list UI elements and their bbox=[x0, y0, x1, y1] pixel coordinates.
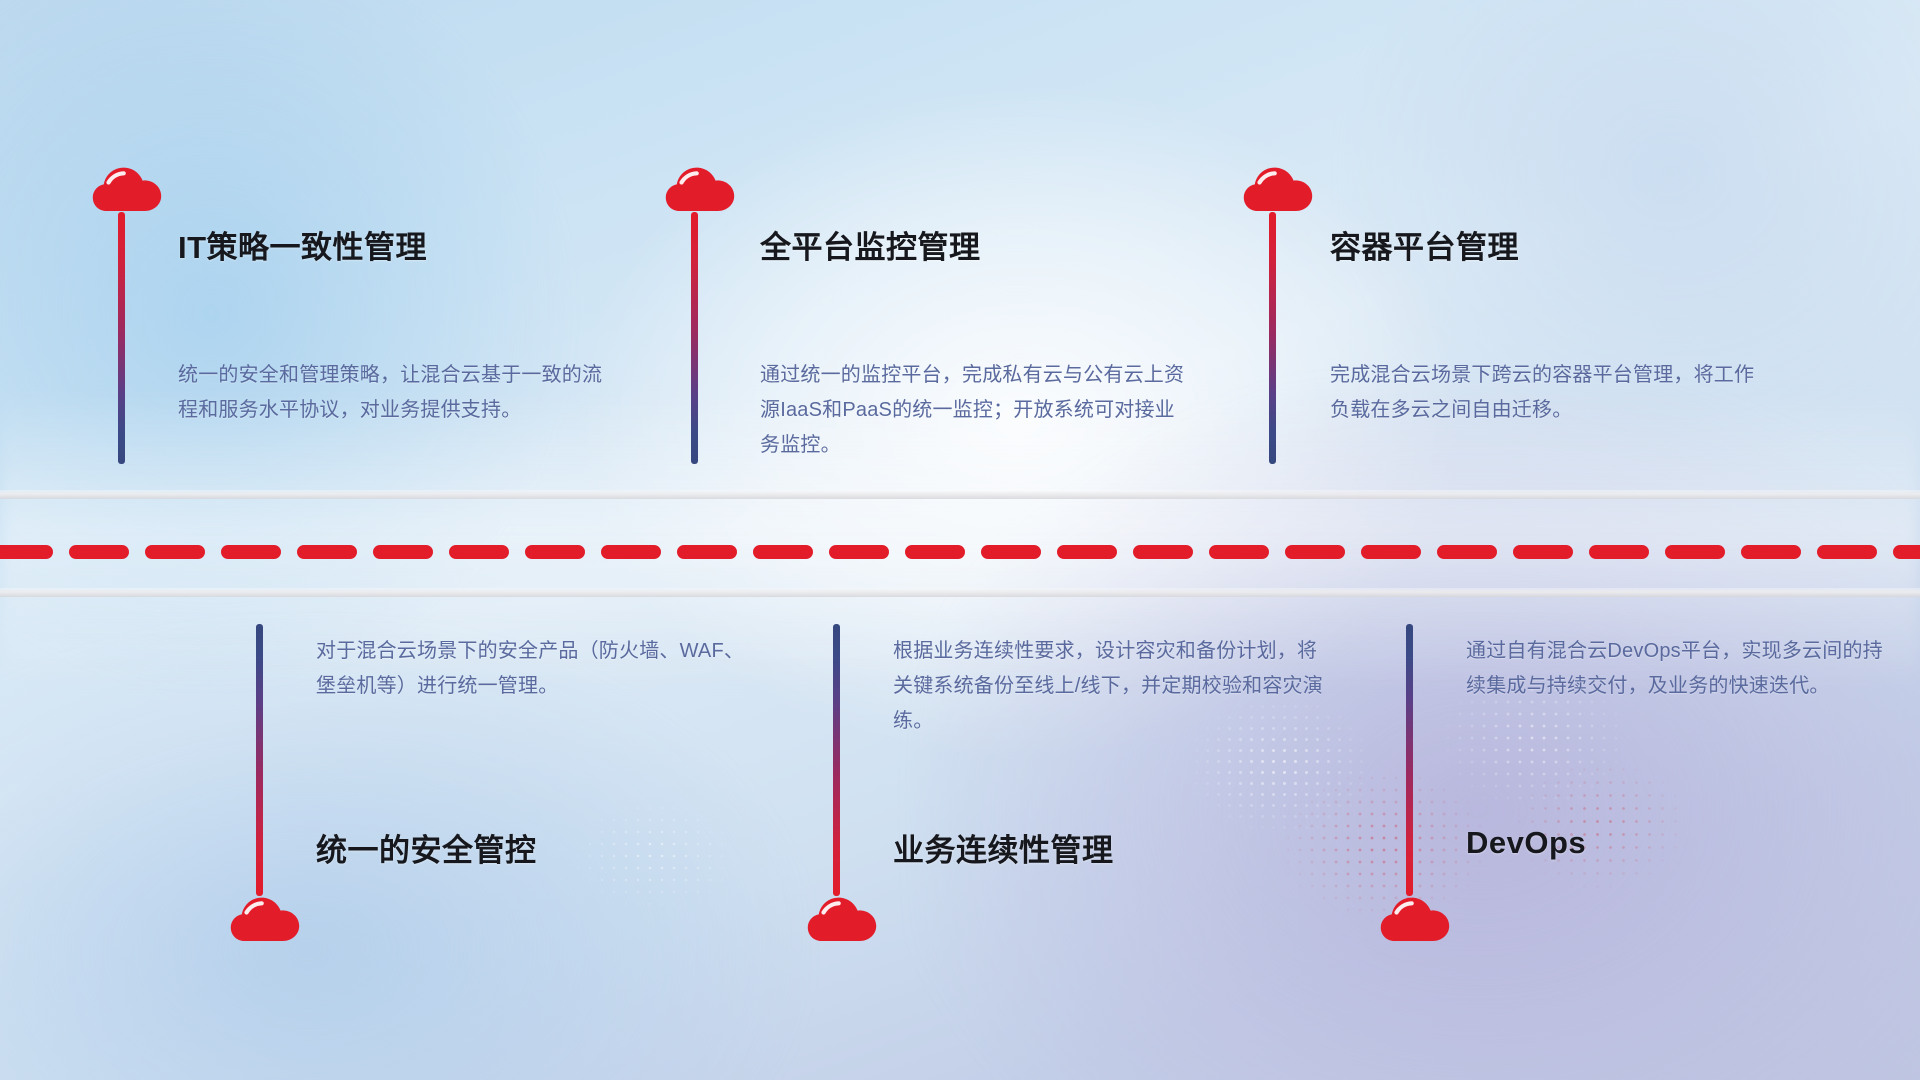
item-title: DevOps bbox=[1466, 825, 1586, 861]
cloud-icon bbox=[807, 890, 877, 946]
item-description: 通过统一的监控平台，完成私有云与公有云上资源IaaS和PaaS的统一监控；开放系… bbox=[760, 358, 1190, 463]
cloud-icon bbox=[1243, 160, 1313, 216]
connector-stem bbox=[833, 624, 840, 896]
item-title: IT策略一致性管理 bbox=[178, 222, 427, 267]
connector-stem bbox=[118, 212, 125, 464]
axis-rail-upper bbox=[0, 490, 1920, 499]
item-description: 通过自有混合云DevOps平台，实现多云间的持续集成与持续交付，及业务的快速迭代… bbox=[1466, 634, 1896, 704]
cloud-icon bbox=[92, 160, 162, 216]
decorative-dot-cluster bbox=[560, 790, 750, 920]
connector-stem bbox=[256, 624, 263, 896]
axis-rail-lower bbox=[0, 588, 1920, 597]
item-description: 完成混合云场景下跨云的容器平台管理，将工作负载在多云之间自由迁移。 bbox=[1330, 358, 1760, 428]
item-description: 对于混合云场景下的安全产品（防火墙、WAF、堡垒机等）进行统一管理。 bbox=[316, 634, 746, 704]
connector-stem bbox=[1269, 212, 1276, 464]
connector-stem bbox=[691, 212, 698, 464]
item-title: 容器平台管理 bbox=[1330, 222, 1519, 267]
cloud-icon bbox=[665, 160, 735, 216]
axis-dashed-line bbox=[0, 545, 1920, 559]
connector-stem bbox=[1406, 624, 1413, 896]
cloud-icon bbox=[230, 890, 300, 946]
cloud-icon bbox=[1380, 890, 1450, 946]
item-title: 全平台监控管理 bbox=[760, 222, 981, 267]
item-title: 统一的安全管控 bbox=[316, 825, 537, 870]
item-title: 业务连续性管理 bbox=[893, 825, 1114, 870]
item-description: 统一的安全和管理策略，让混合云基于一致的流程和服务水平协议，对业务提供支持。 bbox=[178, 358, 608, 428]
item-description: 根据业务连续性要求，设计容灾和备份计划，将关键系统备份至线上/线下，并定期校验和… bbox=[893, 634, 1323, 739]
infographic-canvas: IT策略一致性管理 统一的安全和管理策略，让混合云基于一致的流程和服务水平协议，… bbox=[0, 0, 1920, 1080]
